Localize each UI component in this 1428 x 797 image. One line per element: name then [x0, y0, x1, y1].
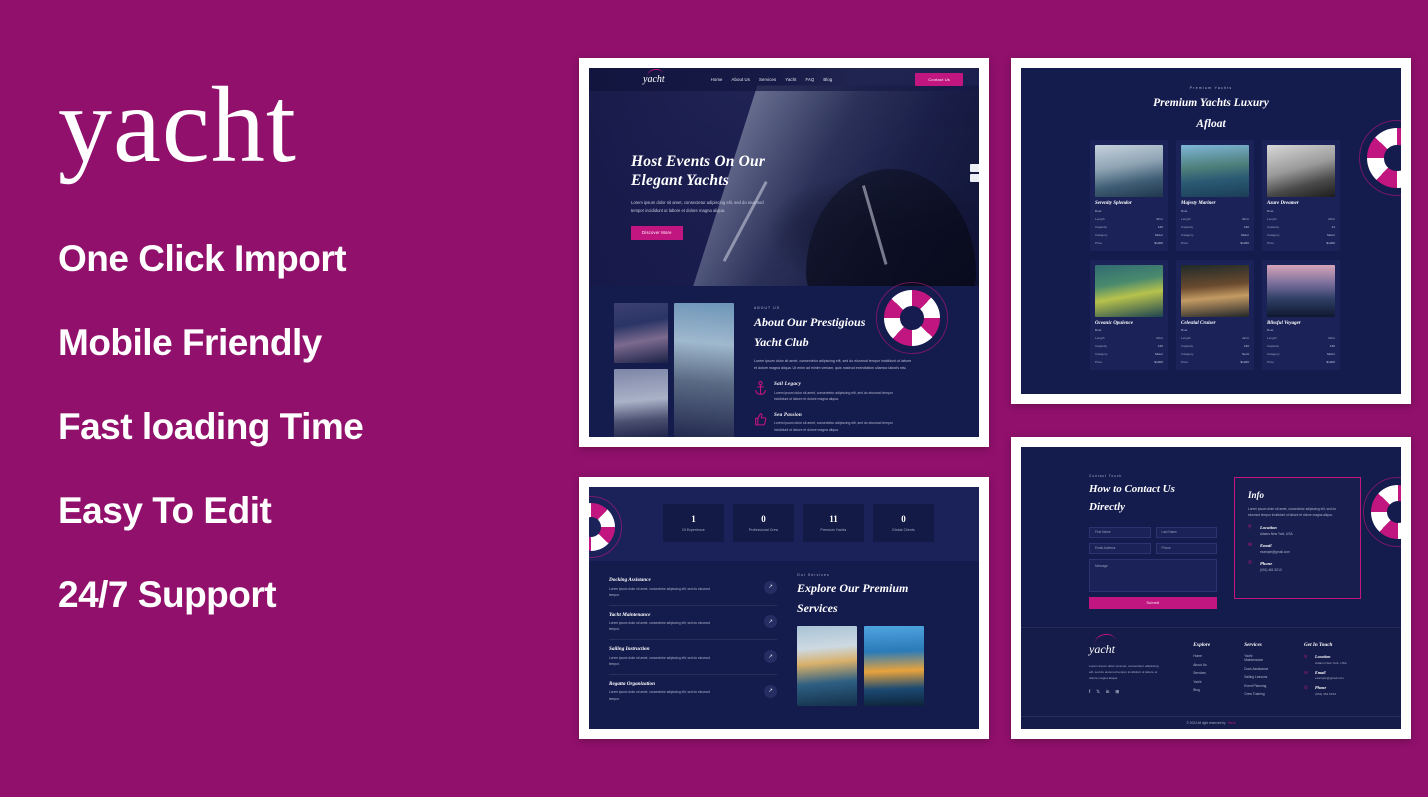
instagram-icon[interactable]: ⊞: [1115, 689, 1119, 695]
stat-label: Premium Yachts: [821, 528, 847, 532]
form-row: First Name Last Name: [1089, 527, 1217, 538]
social-links: f 𝕏 in ⊞: [1089, 689, 1159, 695]
first-name-input[interactable]: First Name: [1089, 527, 1151, 538]
yacht-sub: Boat: [1267, 328, 1335, 332]
spec-value: $1200: [1326, 360, 1335, 364]
service-title: Sailing Instruction: [609, 646, 721, 652]
footer-link[interactable]: Sailing Lessons: [1244, 675, 1270, 679]
stat-number: 0: [761, 514, 766, 524]
info-title: Info: [1248, 490, 1347, 500]
contact-title-line2: Directly: [1089, 500, 1217, 514]
nav-links: Home About Us Services Yacht FAQ Blog: [711, 77, 833, 82]
yacht-card[interactable]: Oceanic Opulence Boat Length13 m Capacit…: [1090, 260, 1168, 371]
service-text: Lorem ipsum dolor sit amet, consectetur …: [609, 620, 721, 632]
spec-label: Price: [1181, 241, 1188, 245]
yacht-sub: Boat: [1095, 328, 1163, 332]
yacht-spec-row: CategoryMotor: [1267, 233, 1335, 237]
contact-section: Contact Touch How to Contact Us Directly…: [1021, 447, 1401, 627]
spec-value: $1200: [1154, 360, 1163, 364]
footer-link[interactable]: Blog: [1193, 688, 1210, 692]
yacht-image: [1267, 265, 1335, 317]
spec-value: 140: [1244, 344, 1249, 348]
spec-label: Category: [1181, 352, 1194, 356]
stat-label: Of Experience: [682, 528, 705, 532]
stat-card: 1 Of Experience: [663, 504, 724, 542]
yacht-spec-row: Price$1200: [1267, 241, 1335, 245]
service-text: Lorem ipsum dolor sit amet, consectetur …: [609, 689, 721, 701]
email-input[interactable]: Email Address: [1089, 543, 1151, 554]
arrow-icon[interactable]: ↗: [764, 650, 777, 663]
services-photo: [864, 626, 924, 706]
yacht-name: Blissful Voyager: [1267, 321, 1335, 326]
side-tab-icon[interactable]: [970, 174, 979, 182]
fleet-eyebrow: Premium Yachts: [1021, 86, 1401, 90]
about-feature-title: Sea Passion: [774, 412, 899, 418]
services-eyebrow: Our Services: [797, 573, 977, 577]
about-feature-item: Sail Legacy Lorem ipsum dolor sit amet, …: [754, 381, 939, 403]
footer-contact-column: Get In Touch ⚲ Location Adams New York, …: [1304, 642, 1389, 701]
side-tab-group[interactable]: [970, 164, 979, 184]
spec-label: Length: [1267, 217, 1276, 221]
feature-item: Easy To Edit: [58, 492, 560, 529]
info-label: Email: [1260, 543, 1290, 548]
spec-value: 120: [1158, 225, 1163, 229]
yacht-spec-row: CategoryMotor: [1267, 352, 1335, 356]
last-name-input[interactable]: Last Name: [1156, 527, 1218, 538]
yacht-spec-row: Capacity14: [1267, 225, 1335, 229]
feature-item: 24/7 Support: [58, 576, 560, 613]
yacht-spec-row: Price$1200: [1181, 360, 1249, 364]
nav-item-services[interactable]: Services: [759, 77, 776, 82]
spec-label: Capacity: [1095, 225, 1107, 229]
nav-item-about[interactable]: About Us: [732, 77, 750, 82]
spec-value: Motor: [1155, 233, 1163, 237]
life-ring-icon: [1371, 485, 1401, 539]
yacht-spec-row: Price$1200: [1267, 360, 1335, 364]
services-title-line2: Services: [797, 601, 977, 617]
service-title: Regatta Organization: [609, 681, 721, 687]
yacht-spec-row: Capacity130: [1267, 344, 1335, 348]
twitter-x-icon[interactable]: 𝕏: [1096, 689, 1100, 695]
spec-value: 13 m: [1156, 336, 1163, 340]
footer-link[interactable]: Yacht Maintenance: [1244, 654, 1270, 662]
spec-value: 32 m: [1156, 217, 1163, 221]
spec-label: Length: [1095, 217, 1104, 221]
arrow-icon[interactable]: ↗: [764, 685, 777, 698]
spec-label: Category: [1095, 352, 1108, 356]
info-row: ✉ Email example@gmail.com: [1248, 543, 1347, 554]
service-title: Docking Assistance: [609, 577, 721, 583]
feature-item: Mobile Friendly: [58, 324, 560, 361]
phone-icon: ✆: [1248, 561, 1255, 567]
anchor-icon: [754, 381, 767, 396]
info-row: ✆ Phone (001) 461 5213: [1248, 561, 1347, 572]
spec-label: Price: [1095, 241, 1102, 245]
footer-column-title: Services: [1244, 642, 1270, 648]
nav-item-home[interactable]: Home: [711, 77, 723, 82]
arrow-icon[interactable]: ↗: [764, 581, 777, 594]
footer-contact-value: (001) 461 5213: [1315, 692, 1336, 696]
spec-value: 120: [1244, 225, 1249, 229]
promo-panel: yacht One Click Import Mobile Friendly F…: [0, 0, 560, 797]
footer-link[interactable]: About Us: [1193, 663, 1210, 667]
nav-item-faq[interactable]: FAQ: [805, 77, 814, 82]
phone-icon: ✆: [1304, 685, 1310, 696]
footer-column-title: Explore: [1193, 642, 1210, 648]
stats-band: 1 Of Experience 0 Professional Crew 11 P…: [589, 487, 979, 561]
contact-form: First Name Last Name Email Address Phone…: [1089, 527, 1217, 609]
contact-eyebrow: Contact Touch: [1089, 474, 1217, 478]
mail-icon: ✉: [1248, 543, 1255, 549]
spec-label: Price: [1267, 241, 1274, 245]
mockup-fleet: Premium Yachts Premium Yachts Luxury Afl…: [1011, 58, 1411, 404]
stat-card: 11 Premium Yachts: [803, 504, 864, 542]
spec-label: Length: [1267, 336, 1276, 340]
yacht-name: Azure Dreamer: [1267, 201, 1335, 206]
footer-contact-value: Adams New York, USA: [1315, 661, 1347, 665]
footer-link[interactable]: Yacht: [1193, 680, 1210, 684]
yacht-spec-row: Capacity120: [1181, 225, 1249, 229]
info-value: Adams New York, USA: [1260, 532, 1293, 536]
copyright-brand[interactable]: Yacht: [1228, 721, 1236, 725]
spec-value: $1200: [1326, 241, 1335, 245]
info-label: Location: [1260, 525, 1293, 530]
side-tab-icon[interactable]: [970, 164, 979, 172]
yacht-image: [1181, 145, 1249, 197]
yacht-spec-row: Capacity120: [1095, 225, 1163, 229]
spec-value: Motor: [1155, 352, 1163, 356]
contact-form-block: Contact Touch How to Contact Us Directly…: [1089, 474, 1217, 609]
spec-label: Capacity: [1095, 344, 1107, 348]
spec-label: Capacity: [1267, 225, 1279, 229]
spec-value: 13 m: [1328, 336, 1335, 340]
footer-contact-label: Location: [1315, 654, 1347, 659]
spec-label: Length: [1095, 336, 1104, 340]
about-feature-text: Lorem ipsum dolor sit amet, consectetur …: [774, 420, 899, 433]
phone-input[interactable]: Phone: [1156, 543, 1218, 554]
footer-column-title: Get In Touch: [1304, 642, 1389, 648]
yacht-card[interactable]: Azure Dreamer Boat Length13 m Capacity14…: [1262, 140, 1340, 251]
service-text: Lorem ipsum dolor sit amet, consectetur …: [609, 655, 721, 667]
spec-value: $1200: [1240, 241, 1249, 245]
spec-value: Motor: [1327, 233, 1335, 237]
hero-paragraph: Lorem ipsum dolor sit amet, consectetur …: [631, 199, 776, 215]
feature-list: One Click Import Mobile Friendly Fast lo…: [58, 240, 560, 613]
footer-explore-column: Explore Home About Us Services Yacht Blo…: [1193, 642, 1210, 701]
services-photo-group: [797, 626, 977, 706]
life-ring-icon: [589, 503, 615, 551]
about-paragraph: Lorem ipsum dolor sit amet, consectetur …: [754, 358, 914, 372]
spec-value: 120: [1158, 344, 1163, 348]
stat-label: Global Clients: [892, 528, 915, 532]
discover-more-button[interactable]: Discover More: [631, 226, 683, 240]
services-photo: [797, 626, 857, 706]
arrow-icon[interactable]: ↗: [764, 615, 777, 628]
yacht-spec-row: Price$1200: [1095, 360, 1163, 364]
yacht-spec-row: Price$1200: [1181, 241, 1249, 245]
info-paragraph: Lorem ipsum dolor sit amet, consectetur …: [1248, 506, 1347, 518]
yacht-spec-row: CategoryMotor: [1095, 352, 1163, 356]
spec-value: $1200: [1154, 241, 1163, 245]
footer-link[interactable]: Dock Assistance: [1244, 667, 1270, 671]
footer-contact-value: example@gmail.com: [1315, 676, 1344, 680]
footer-contact-label: Email: [1315, 670, 1344, 675]
spec-label: Category: [1095, 233, 1108, 237]
yacht-spec-row: Capacity140: [1181, 344, 1249, 348]
info-row: ⚲ Location Adams New York, USA: [1248, 525, 1347, 536]
footer: yacht Lorem ipsum dolor sit amet, consec…: [1021, 627, 1401, 729]
spec-label: Category: [1267, 352, 1280, 356]
yacht-spec-row: Length13 m: [1267, 217, 1335, 221]
spec-value: 32 m: [1242, 217, 1249, 221]
life-ring-icon: [884, 290, 940, 346]
hero-section: yacht Home About Us Services Yacht FAQ B…: [589, 68, 979, 286]
service-item[interactable]: Sailing Instruction Lorem ipsum dolor si…: [609, 640, 777, 675]
spec-value: Semi: [1242, 352, 1249, 356]
message-input[interactable]: Message: [1089, 559, 1217, 592]
footer-contact-row: ⚲ Location Adams New York, USA: [1304, 654, 1389, 665]
form-row: Message: [1089, 559, 1217, 592]
yacht-sub: Boat: [1095, 209, 1163, 213]
footer-about: Lorem ipsum dolor sit amet, consectetur …: [1089, 663, 1159, 681]
spec-label: Price: [1095, 360, 1102, 364]
yacht-spec-row: Length32 m: [1181, 217, 1249, 221]
stats-row: 1 Of Experience 0 Professional Crew 11 P…: [663, 504, 934, 542]
yacht-card-grid: Serenity Splendor Boat Length32 m Capaci…: [1090, 140, 1340, 370]
spec-label: Price: [1267, 360, 1274, 364]
spec-label: Capacity: [1181, 344, 1193, 348]
nav-item-blog[interactable]: Blog: [823, 77, 832, 82]
spec-label: Category: [1181, 233, 1194, 237]
yacht-card[interactable]: Serenity Splendor Boat Length32 m Capaci…: [1090, 140, 1168, 251]
service-item[interactable]: Regatta Organization Lorem ipsum dolor s…: [609, 675, 777, 709]
about-feature-text: Lorem ipsum dolor sit amet, consectetur …: [774, 390, 899, 403]
info-value: (001) 461 5213: [1260, 568, 1282, 572]
yacht-image: [1095, 265, 1163, 317]
service-title: Yacht Maintenance: [609, 612, 721, 618]
contact-info-card: Info Lorem ipsum dolor sit amet, consect…: [1234, 477, 1361, 599]
stat-number: 0: [901, 514, 906, 524]
yacht-name: Oceanic Opulence: [1095, 321, 1163, 326]
spec-value: 130: [1330, 344, 1335, 348]
yacht-spec-row: Length13 m: [1095, 336, 1163, 340]
spec-label: Capacity: [1267, 344, 1279, 348]
contact-us-button[interactable]: Contact Us: [915, 73, 963, 85]
yacht-spec-row: CategoryMotor: [1181, 233, 1249, 237]
spec-value: Motor: [1327, 352, 1335, 356]
footer-brand-block: yacht Lorem ipsum dolor sit amet, consec…: [1089, 642, 1159, 701]
services-section: Docking Assistance Lorem ipsum dolor sit…: [589, 561, 979, 729]
mockup-services: 1 Of Experience 0 Professional Crew 11 P…: [579, 477, 989, 739]
stat-label: Professional Crew: [749, 528, 778, 532]
yacht-image: [1095, 145, 1163, 197]
fleet-header: Premium Yachts Premium Yachts Luxury Afl…: [1021, 68, 1401, 132]
mail-icon: ✉: [1304, 670, 1310, 681]
mockup-contact: Contact Touch How to Contact Us Directly…: [1011, 437, 1411, 739]
facebook-icon[interactable]: f: [1089, 689, 1090, 695]
footer-link[interactable]: Event Planning: [1244, 684, 1270, 688]
footer-services-column: Services Yacht Maintenance Dock Assistan…: [1244, 642, 1270, 701]
spec-value: 14: [1332, 225, 1335, 229]
spec-value: Motor: [1241, 233, 1249, 237]
spec-value: 13 m: [1328, 217, 1335, 221]
footer-contact-label: Phone: [1315, 685, 1336, 690]
footer-contact-row: ✆ Phone (001) 461 5213: [1304, 685, 1389, 696]
services-list: Docking Assistance Lorem ipsum dolor sit…: [609, 571, 777, 709]
yacht-sub: Boat: [1181, 209, 1249, 213]
footer-link[interactable]: Services: [1193, 671, 1210, 675]
linkedin-icon[interactable]: in: [1106, 689, 1110, 695]
footer-contact-row: ✉ Email example@gmail.com: [1304, 670, 1389, 681]
stat-card: 0 Global Clients: [873, 504, 934, 542]
brand-title: yacht: [58, 72, 560, 180]
info-label: Phone: [1260, 561, 1282, 566]
about-feature-title: Sail Legacy: [774, 381, 899, 387]
yacht-card[interactable]: Celestial Cruiser Boat Length12 m Capaci…: [1176, 260, 1254, 371]
about-photo: [614, 303, 668, 363]
service-item[interactable]: Yacht Maintenance Lorem ipsum dolor sit …: [609, 606, 777, 641]
spec-label: Length: [1181, 336, 1190, 340]
hero-text: Host Events On Our Elegant Yachts Lorem …: [631, 152, 831, 240]
yacht-sub: Boat: [1181, 328, 1249, 332]
fleet-title-line2: Afloat: [1021, 117, 1401, 132]
hero-boat-shape: [806, 169, 976, 286]
copyright-text: © 2024 All right reserved by: [1186, 721, 1225, 725]
yacht-spec-row: Capacity120: [1095, 344, 1163, 348]
form-row: Email Address Phone: [1089, 543, 1217, 554]
life-ring-icon: [1367, 128, 1401, 188]
about-photo-group: [614, 303, 734, 437]
fleet-title-line1: Premium Yachts Luxury: [1021, 96, 1401, 111]
services-title-line1: Explore Our Premium: [797, 581, 977, 597]
mockup-homepage: yacht Home About Us Services Yacht FAQ B…: [579, 58, 989, 447]
yacht-image: [1267, 145, 1335, 197]
nav-logo[interactable]: yacht: [643, 74, 665, 85]
spec-label: Capacity: [1181, 225, 1193, 229]
spec-value: 12 m: [1242, 336, 1249, 340]
hero-title-line1: Host Events On Our: [631, 152, 831, 171]
stat-number: 1: [691, 514, 696, 524]
stat-number: 11: [829, 514, 838, 524]
location-pin-icon: ⚲: [1248, 525, 1255, 531]
spec-label: Length: [1181, 217, 1190, 221]
service-text: Lorem ipsum dolor sit amet, consectetur …: [609, 586, 721, 598]
nav-item-yacht[interactable]: Yacht: [785, 77, 796, 82]
footer-logo[interactable]: yacht: [1089, 642, 1159, 657]
yacht-spec-row: Price$1200: [1095, 241, 1163, 245]
navbar: yacht Home About Us Services Yacht FAQ B…: [589, 68, 979, 91]
thumbs-up-icon: [754, 412, 767, 427]
footer-link[interactable]: Crew Training: [1244, 692, 1270, 696]
spec-value: $1200: [1240, 360, 1249, 364]
yacht-spec-row: Length12 m: [1181, 336, 1249, 340]
services-header: Our Services Explore Our Premium Service…: [797, 573, 977, 706]
yacht-name: Celestial Cruiser: [1181, 321, 1249, 326]
footer-link[interactable]: Home: [1193, 654, 1210, 658]
footer-copyright-bar: © 2024 All right reserved by Yacht: [1021, 716, 1401, 729]
feature-item: Fast loading Time: [58, 408, 560, 445]
submit-button[interactable]: Submit: [1089, 597, 1217, 609]
contact-title-line1: How to Contact Us: [1089, 482, 1217, 496]
yacht-spec-row: Length32 m: [1095, 217, 1163, 221]
yacht-card[interactable]: Majesty Mariner Boat Length32 m Capacity…: [1176, 140, 1254, 251]
service-item[interactable]: Docking Assistance Lorem ipsum dolor sit…: [609, 571, 777, 606]
yacht-name: Majesty Mariner: [1181, 201, 1249, 206]
about-photo: [674, 303, 734, 437]
about-photo: [614, 369, 668, 437]
yacht-sub: Boat: [1267, 209, 1335, 213]
spec-label: Price: [1181, 360, 1188, 364]
yacht-spec-row: CategoryMotor: [1095, 233, 1163, 237]
hero-title-line2: Elegant Yachts: [631, 171, 831, 190]
yacht-spec-row: CategorySemi: [1181, 352, 1249, 356]
yacht-spec-row: Length13 m: [1267, 336, 1335, 340]
spec-label: Category: [1267, 233, 1280, 237]
location-pin-icon: ⚲: [1304, 654, 1310, 665]
yacht-name: Serenity Splendor: [1095, 201, 1163, 206]
yacht-image: [1181, 265, 1249, 317]
stat-card: 0 Professional Crew: [733, 504, 794, 542]
yacht-card[interactable]: Blissful Voyager Boat Length13 m Capacit…: [1262, 260, 1340, 371]
about-feature-item: Sea Passion Lorem ipsum dolor sit amet, …: [754, 412, 939, 434]
info-value: example@gmail.com: [1260, 550, 1290, 554]
feature-item: One Click Import: [58, 240, 560, 277]
about-feature-list: Sail Legacy Lorem ipsum dolor sit amet, …: [754, 381, 939, 437]
